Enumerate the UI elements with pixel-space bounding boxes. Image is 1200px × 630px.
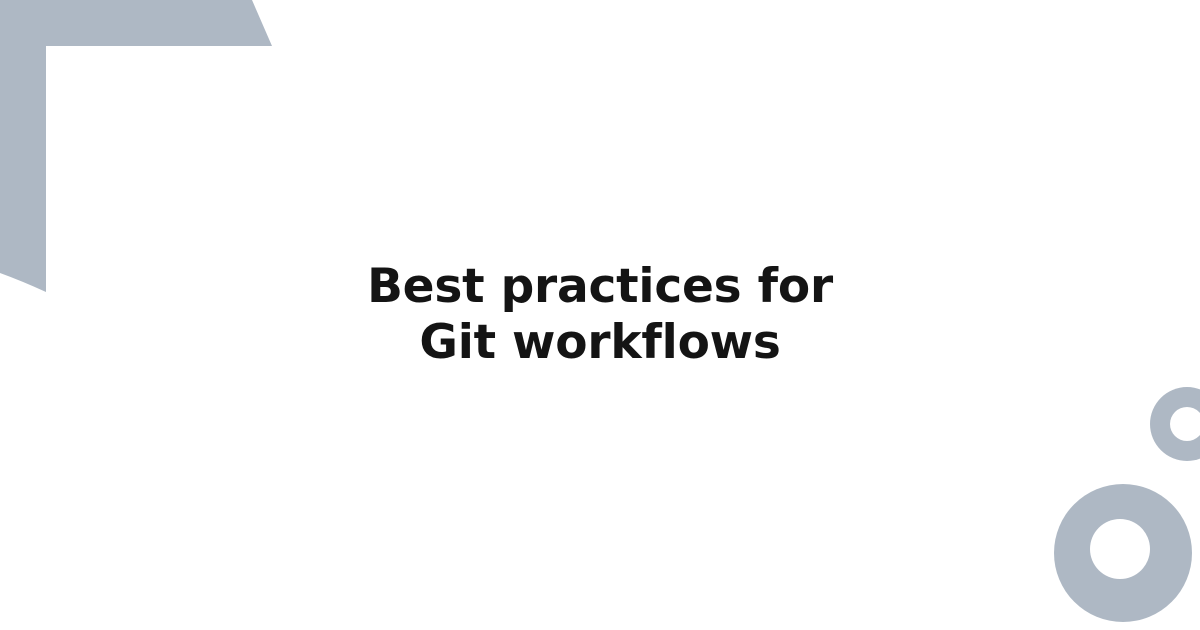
headline-container: Best practices for Git workflows [0, 0, 1200, 630]
social-share-card: Best practices for Git workflows [0, 0, 1200, 630]
page-title: Best practices for Git workflows [220, 259, 980, 371]
